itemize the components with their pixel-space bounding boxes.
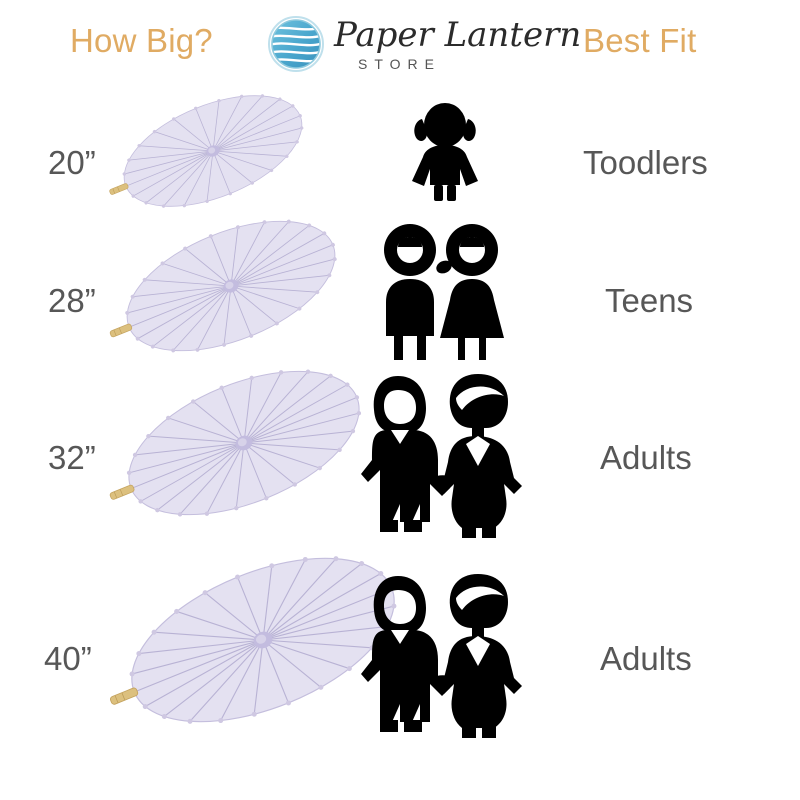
size-label-20in: 20” [48,144,96,182]
header: How Big? [0,0,800,88]
header-how-big-title: How Big? [70,22,213,60]
size-label-32in: 32” [48,439,96,477]
parasol-28in [108,210,354,362]
size-label-40in: 40” [44,640,92,678]
logo-store-text: STORE [358,56,441,72]
row-28in: 28” [0,210,800,370]
fit-label-adults-32: Adults [600,439,692,477]
row-20in: 20” [0,88,800,208]
adult-couple-figure-icon [358,570,526,738]
header-best-fit-title: Best Fit [583,22,696,60]
parasol-32in [108,358,380,528]
paper-lantern-icon [264,12,328,76]
logo-script-text: Paper Lantern [334,10,544,60]
logo-wordmark: Paper Lantern STORE [334,10,544,82]
parasol-20in [108,86,318,216]
row-32in: 32” [0,362,800,552]
teen-couple-figure-icon [378,220,504,360]
size-label-28in: 28” [48,282,96,320]
fit-label-toddlers: Toodlers [583,144,708,182]
fit-label-teens: Teens [605,282,693,320]
fit-label-adults-40: Adults [600,640,692,678]
brand-logo[interactable]: Paper Lantern STORE [262,8,547,84]
toddler-girl-figure-icon [402,103,488,201]
row-40in: 40” [0,548,800,788]
adult-couple-figure-icon [358,370,526,538]
